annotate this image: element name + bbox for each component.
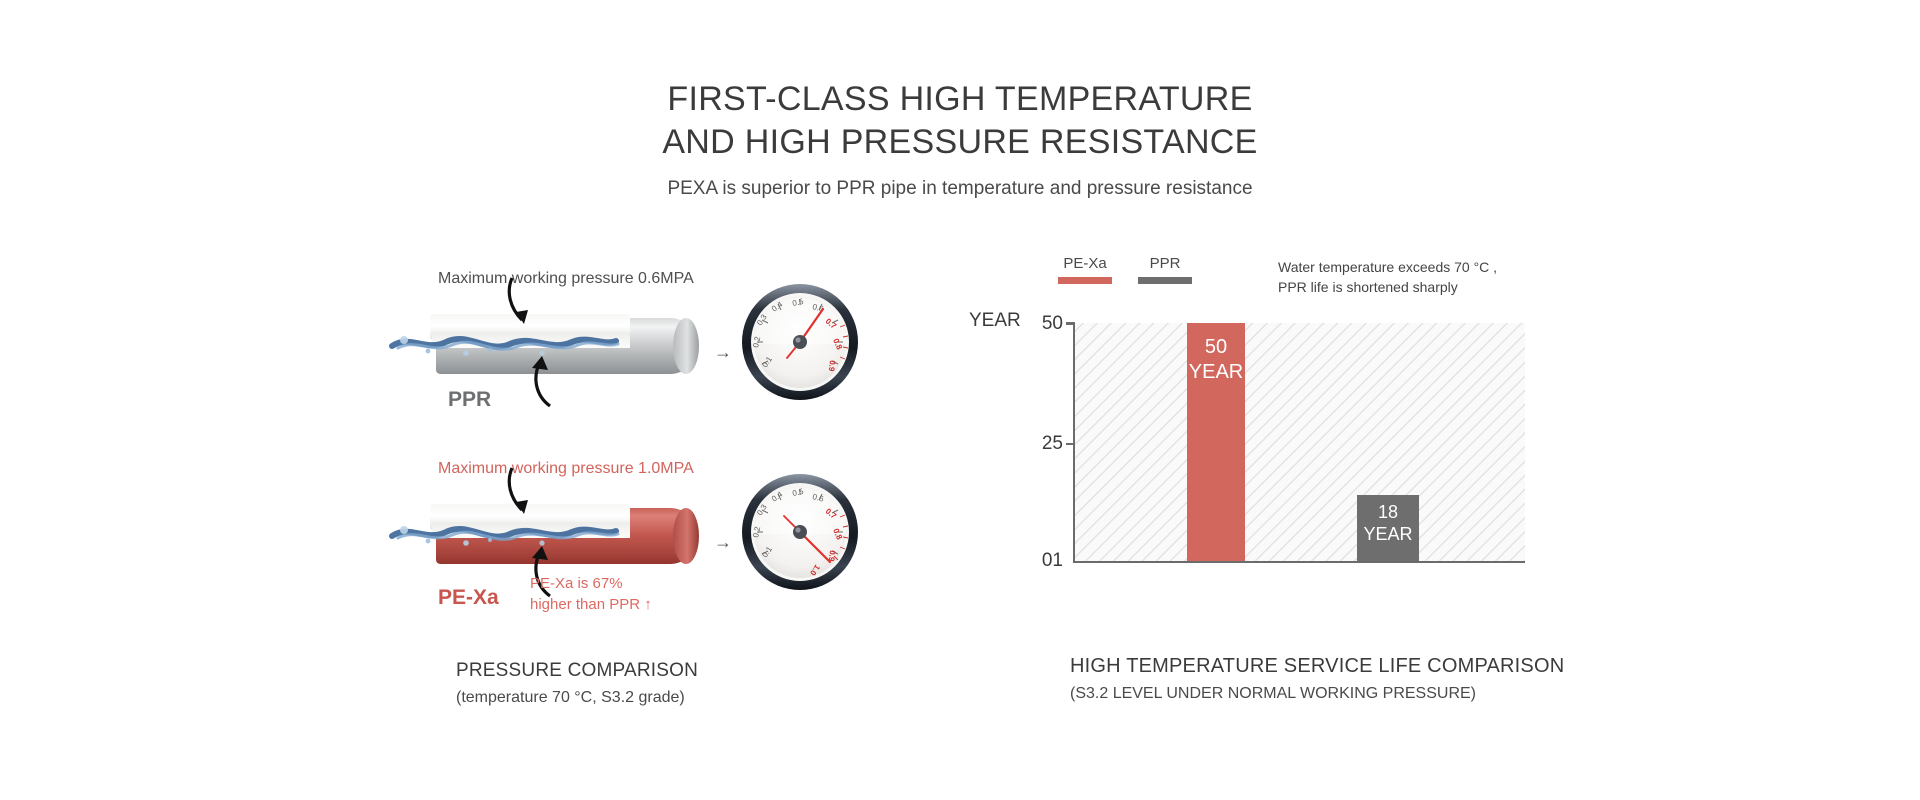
service-life-caption: HIGH TEMPERATURE SERVICE LIFE COMPARISON… [1070, 655, 1564, 703]
bar-ppr-unit: YEAR [1357, 523, 1419, 545]
chart-annotation-line-2: PPR life is shortened sharply [1278, 277, 1497, 297]
legend-label-ppr: PPR [1150, 255, 1181, 272]
ppr-top-callout-arrow [500, 276, 556, 332]
page-subtitle: PEXA is superior to PPR pipe in temperat… [0, 178, 1920, 200]
chart-legend: PE-Xa PPR [1058, 255, 1192, 284]
y-tick-label-25: 25 [1042, 433, 1063, 455]
ppr-pipe-illustration: → [408, 306, 698, 386]
y-axis-unit-label: YEAR [969, 310, 1021, 332]
pexa-advantage-line-2: higher than PPR ↑ [530, 594, 652, 615]
ppr-pressure-gauge-icon: 0.1 0.2 0.3 0.4 0.5 0.6 0.7 0.8 0.9 [740, 282, 860, 402]
pexa-pressure-label: Maximum working pressure 1.0MPA [438, 460, 694, 478]
y-tick-mark-50 [1066, 323, 1075, 325]
service-life-caption-title: HIGH TEMPERATURE SERVICE LIFE COMPARISON [1070, 655, 1564, 678]
page-title-line-2: AND HIGH PRESSURE RESISTANCE [0, 121, 1920, 164]
legend-swatch-ppr [1138, 277, 1192, 284]
y-tick-label-01: 01 [1042, 550, 1063, 572]
pexa-pressure-gauge-icon: 0.1 0.2 0.3 0.4 0.5 0.6 0.7 0.8 0.9 1.0 [740, 472, 860, 592]
pexa-pipe-name: PE-Xa [438, 586, 499, 610]
chart-plot-area: YEAR 50 25 01 50 YEAR 18 YEAR [1073, 323, 1525, 563]
ppr-pipe-name: PPR [448, 388, 491, 412]
service-life-caption-subtitle: (S3.2 LEVEL UNDER NORMAL WORKING PRESSUR… [1070, 685, 1564, 703]
legend-label-pexa: PE-Xa [1063, 255, 1106, 272]
bar-pexa-value: 50 [1187, 335, 1245, 360]
legend-item-ppr: PPR [1138, 255, 1192, 284]
pexa-to-gauge-arrow-icon: → [714, 532, 732, 553]
pressure-caption-subtitle: (temperature 70 °C, S3.2 grade) [456, 689, 698, 707]
pressure-comparison-panel: Maximum working pressure 0.6MPA [400, 270, 880, 670]
legend-swatch-pexa [1058, 277, 1112, 284]
pressure-caption-title: PRESSURE COMPARISON [456, 660, 698, 682]
ppr-pipe-end-cap [673, 318, 699, 374]
service-life-chart: PE-Xa PPR Water temperature exceeds 70 °… [990, 255, 1610, 585]
y-tick-label-50: 50 [1042, 313, 1063, 335]
pexa-pipe-illustration: → [408, 496, 698, 576]
legend-item-pexa: PE-Xa [1058, 255, 1112, 284]
ppr-bottom-callout-arrow [520, 350, 576, 410]
svg-text:0.9: 0.9 [827, 360, 837, 373]
infographic-page: FIRST-CLASS HIGH TEMPERATURE AND HIGH PR… [0, 0, 1920, 800]
bar-ppr-value: 18 [1357, 501, 1419, 523]
page-title-line-1: FIRST-CLASS HIGH TEMPERATURE [0, 78, 1920, 121]
ppr-pressure-label: Maximum working pressure 0.6MPA [438, 270, 694, 288]
bar-pexa-unit: YEAR [1187, 360, 1245, 385]
pressure-comparison-caption: PRESSURE COMPARISON (temperature 70 °C, … [456, 660, 698, 707]
pexa-top-callout-arrow [500, 466, 556, 522]
chart-annotation: Water temperature exceeds 70 °C , PPR li… [1278, 257, 1497, 297]
bar-ppr: 18 YEAR [1357, 495, 1419, 561]
ppr-to-gauge-arrow-icon: → [714, 342, 732, 363]
pexa-pipe-end-cap [673, 508, 699, 564]
bar-pexa: 50 YEAR [1187, 323, 1245, 561]
pexa-advantage-note: PE-Xa is 67% higher than PPR ↑ [530, 573, 652, 615]
chart-annotation-line-1: Water temperature exceeds 70 °C , [1278, 257, 1497, 277]
pexa-advantage-line-1: PE-Xa is 67% [530, 573, 652, 594]
page-header: FIRST-CLASS HIGH TEMPERATURE AND HIGH PR… [0, 78, 1920, 200]
y-tick-mark-25 [1066, 443, 1075, 445]
